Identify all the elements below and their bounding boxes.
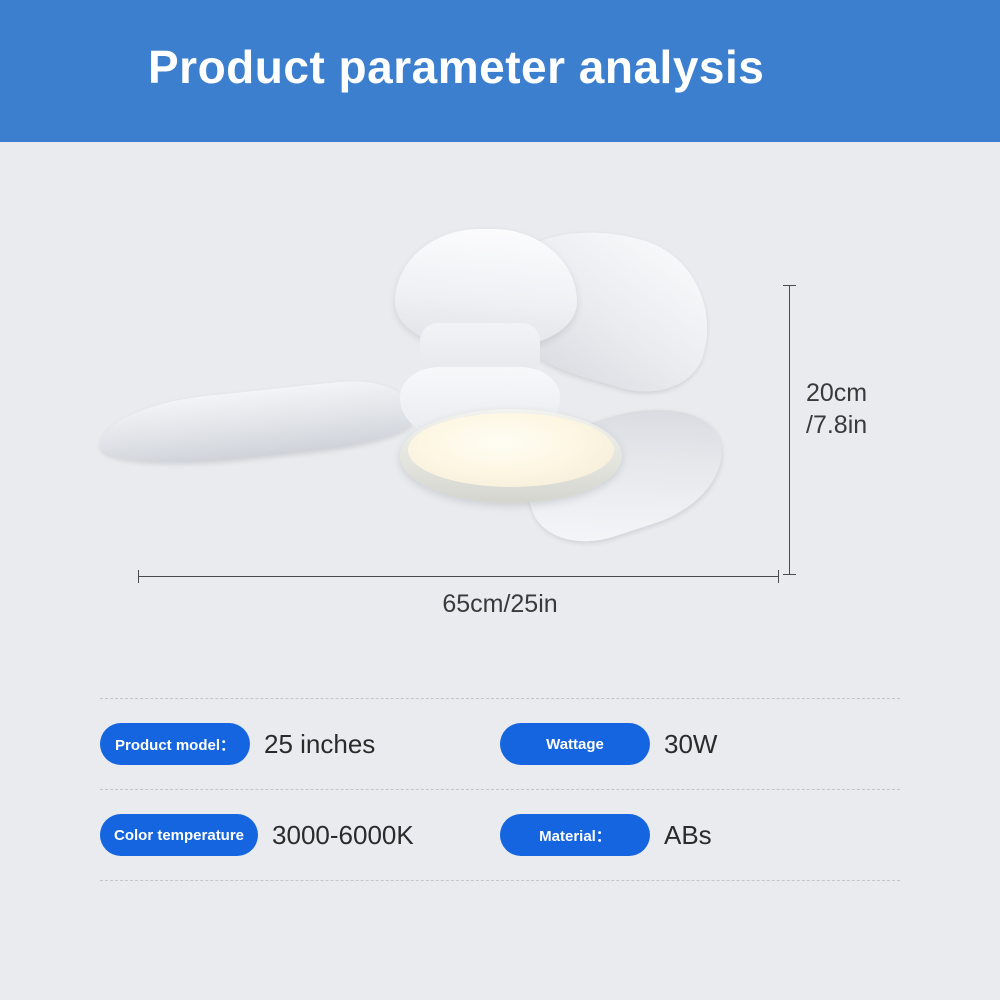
- page-header: Product parameter analysis: [0, 0, 1000, 142]
- spec-color-temperature: Color temperature 3000-6000K: [100, 814, 500, 856]
- spec-value-wattage: 30W: [664, 729, 717, 760]
- product-image-area: 20cm /7.8in 65cm/25in: [0, 142, 1000, 682]
- spec-value-color-temperature: 3000-6000K: [272, 820, 414, 851]
- specs-row-2: Color temperature 3000-6000K Material： A…: [100, 790, 900, 880]
- width-dimension-label: 65cm/25in: [0, 590, 1000, 619]
- specs-row-1: Product model： 25 inches Wattage 30W: [100, 699, 900, 789]
- height-dimension-line: [789, 285, 790, 575]
- fan-blade-left: [96, 375, 413, 473]
- specs-divider-bottom: [100, 880, 900, 881]
- spec-label-product-model: Product model：: [100, 723, 250, 765]
- height-dimension-value-cm: 20cm: [806, 377, 867, 409]
- led-light-diffuser: [408, 413, 614, 487]
- specs-table: Product model： 25 inches Wattage 30W Col…: [100, 698, 900, 881]
- width-dimension-line: [138, 576, 779, 577]
- page-title: Product parameter analysis: [148, 44, 764, 98]
- spec-value-material: ABs: [664, 820, 712, 851]
- height-dimension-label: 20cm /7.8in: [806, 377, 867, 441]
- height-dimension-value-in: /7.8in: [806, 409, 867, 441]
- spec-label-wattage: Wattage: [500, 723, 650, 765]
- ceiling-fan-illustration: [95, 227, 735, 567]
- spec-wattage: Wattage 30W: [500, 723, 900, 765]
- spec-value-product-model: 25 inches: [264, 729, 375, 760]
- spec-label-color-temperature: Color temperature: [100, 814, 258, 856]
- spec-material: Material： ABs: [500, 814, 900, 856]
- spec-label-material: Material：: [500, 814, 650, 856]
- spec-product-model: Product model： 25 inches: [100, 723, 500, 765]
- product-parameter-page: Product parameter analysis 20cm /7.8in 6…: [0, 0, 1000, 1000]
